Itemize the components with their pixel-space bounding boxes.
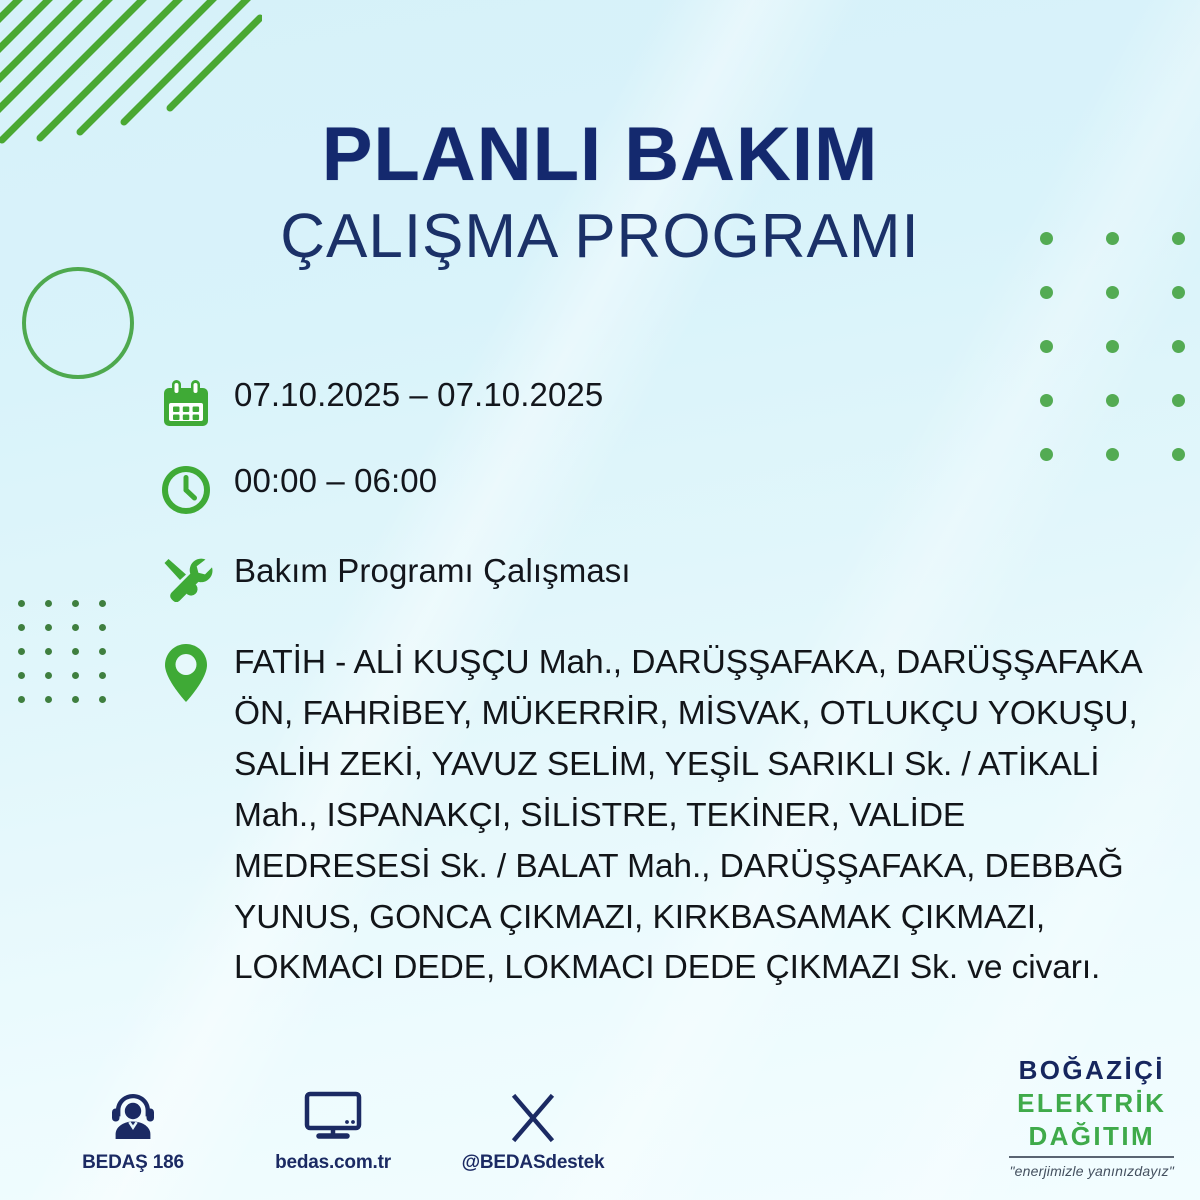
- x-twitter-icon: [507, 1087, 559, 1143]
- page-title: PLANLI BAKIM: [0, 118, 1200, 192]
- headset-support-icon: [106, 1087, 160, 1143]
- circle-outline-decoration: [22, 267, 134, 379]
- contact-website[interactable]: bedas.com.tr: [258, 1087, 408, 1174]
- time-range-value: 00:00 – 06:00: [234, 462, 437, 500]
- tools-icon: [160, 552, 234, 606]
- contact-phone-label: BEDAŞ 186: [82, 1152, 184, 1174]
- contact-x-social[interactable]: @BEDASdestek: [458, 1087, 608, 1174]
- maintenance-notice-poster: PLANLI BAKIM ÇALIŞMA PROGRAMI: [0, 0, 1200, 1200]
- brand-line-dagitim: DAĞITIM: [1009, 1123, 1174, 1149]
- brand-line-elektrik: ELEKTRİK: [1009, 1090, 1174, 1116]
- page-subtitle: ÇALIŞMA PROGRAMI: [0, 204, 1200, 269]
- contact-website-label: bedas.com.tr: [275, 1152, 391, 1174]
- bedas-brand-logo: BOĞAZİÇİ ELEKTRİK DAĞITIM "enerjimizle y…: [1009, 1057, 1174, 1178]
- brand-slogan: "enerjimizle yanınızdayız": [1009, 1164, 1174, 1178]
- clock-icon: [160, 462, 234, 516]
- detail-row-time: 00:00 – 06:00: [160, 462, 1170, 516]
- detail-row-date: 07.10.2025 – 07.10.2025: [160, 376, 1170, 430]
- contact-x-label: @BEDASdestek: [462, 1152, 605, 1174]
- brand-divider: [1009, 1156, 1174, 1158]
- detail-row-address: FATİH - ALİ KUŞÇU Mah., DARÜŞŞAFAKA, DAR…: [160, 638, 1170, 994]
- footer-contact-bar: BEDAŞ 186 bedas.com.tr: [58, 1087, 608, 1174]
- monitor-website-icon: [303, 1087, 363, 1143]
- contact-phone[interactable]: BEDAŞ 186: [58, 1087, 208, 1174]
- detail-row-work-type: Bakım Programı Çalışması: [160, 552, 1170, 606]
- work-type-value: Bakım Programı Çalışması: [234, 552, 631, 590]
- poster-header: PLANLI BAKIM ÇALIŞMA PROGRAMI: [0, 118, 1200, 270]
- calendar-icon: [160, 376, 234, 430]
- address-value: FATİH - ALİ KUŞÇU Mah., DARÜŞŞAFAKA, DAR…: [234, 638, 1164, 994]
- location-pin-icon: [160, 638, 234, 706]
- brand-line-bogazici: BOĞAZİÇİ: [1009, 1057, 1174, 1083]
- dot-grid-left-decoration: [18, 600, 126, 720]
- date-range-value: 07.10.2025 – 07.10.2025: [234, 376, 603, 414]
- maintenance-details: 07.10.2025 – 07.10.2025 00:00 – 06:00: [160, 376, 1170, 1016]
